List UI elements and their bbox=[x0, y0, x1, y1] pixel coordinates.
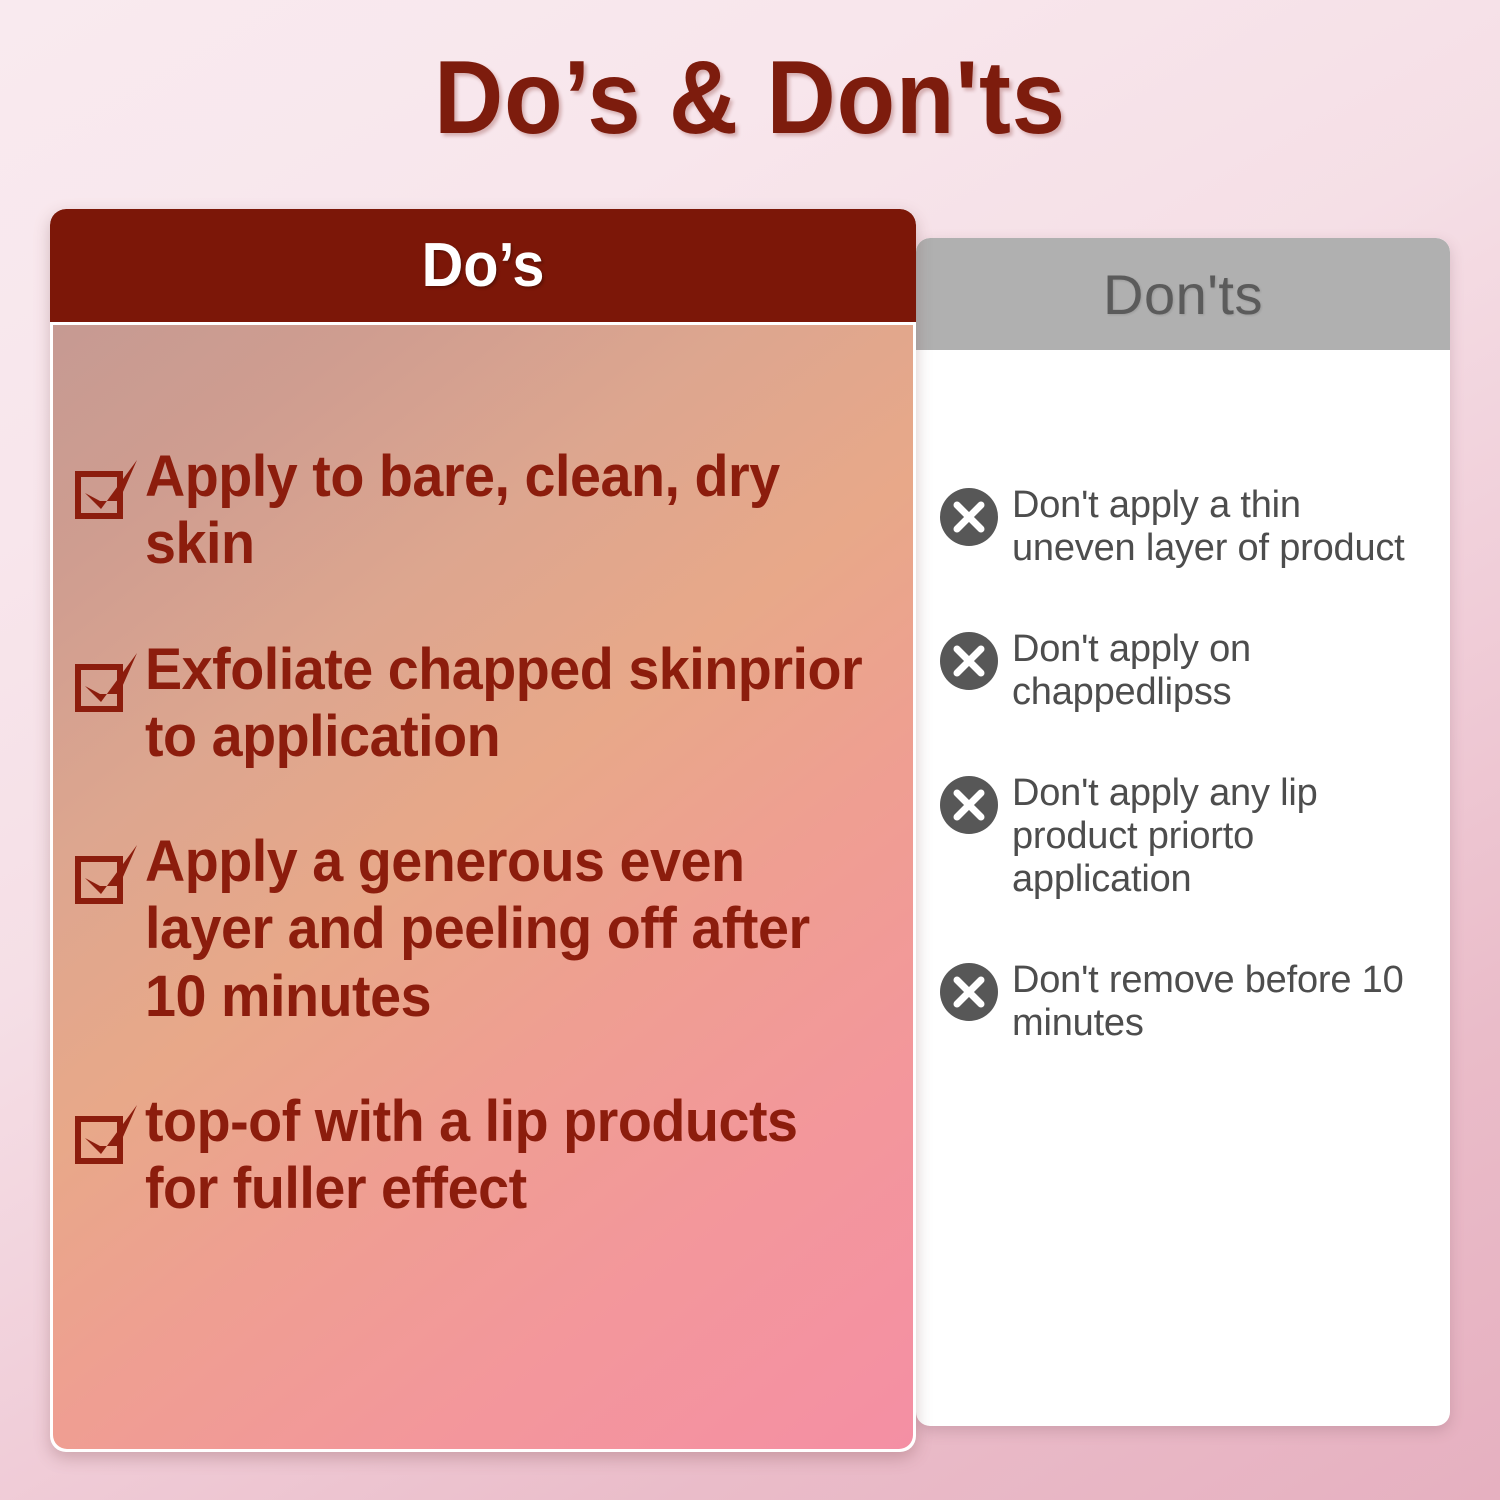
dos-header-label: Do’s bbox=[422, 230, 545, 301]
list-item: Don't remove before 10 minutes bbox=[940, 957, 1422, 1045]
circle-x-icon bbox=[940, 632, 998, 690]
list-item-label: top-of with a lip products for fuller ef… bbox=[145, 1088, 865, 1223]
list-item-label: Don't remove before 10 minutes bbox=[1012, 957, 1422, 1045]
list-item-label: Apply to bare, clean, dry skin bbox=[145, 443, 865, 578]
dos-header: Do’s bbox=[50, 209, 916, 322]
list-item: Apply a generous even layer and peeling … bbox=[75, 828, 895, 1030]
list-item-label: Don't apply on chappedlipss bbox=[1012, 626, 1422, 714]
list-item: Don't apply any lip product priorto appl… bbox=[940, 770, 1422, 901]
list-item-label: Don't apply any lip product priorto appl… bbox=[1012, 770, 1422, 901]
donts-header: Don'ts bbox=[916, 238, 1450, 350]
list-item: top-of with a lip products for fuller ef… bbox=[75, 1088, 895, 1223]
list-item: Don't apply a thin uneven layer of produ… bbox=[940, 482, 1422, 570]
checkbox-checked-icon bbox=[75, 842, 141, 904]
checkbox-checked-icon bbox=[75, 457, 141, 519]
checkbox-checked-icon bbox=[75, 650, 141, 712]
checkbox-checked-icon bbox=[75, 1102, 141, 1164]
dos-list: Apply to bare, clean, dry skin Exfoliate… bbox=[53, 325, 913, 1449]
infographic-page: Do’s & Don'ts Don'ts Don't apply a thin … bbox=[0, 0, 1500, 1500]
list-item-label: Exfoliate chapped skinprior to applicati… bbox=[145, 636, 865, 771]
donts-card: Don'ts Don't apply a thin uneven layer o… bbox=[916, 238, 1450, 1426]
list-item-label: Don't apply a thin uneven layer of produ… bbox=[1012, 482, 1422, 570]
dos-card: Do’s Apply to bare, clean, dry skin bbox=[50, 209, 916, 1452]
circle-x-icon bbox=[940, 963, 998, 1021]
page-title: Do’s & Don'ts bbox=[60, 44, 1440, 153]
circle-x-icon bbox=[940, 776, 998, 834]
circle-x-icon bbox=[940, 488, 998, 546]
list-item-label: Apply a generous even layer and peeling … bbox=[145, 828, 865, 1030]
donts-header-label: Don'ts bbox=[1103, 262, 1263, 327]
list-item: Exfoliate chapped skinprior to applicati… bbox=[75, 636, 895, 771]
list-item: Apply to bare, clean, dry skin bbox=[75, 443, 895, 578]
donts-list: Don't apply a thin uneven layer of produ… bbox=[916, 350, 1450, 1044]
list-item: Don't apply on chappedlipss bbox=[940, 626, 1422, 714]
